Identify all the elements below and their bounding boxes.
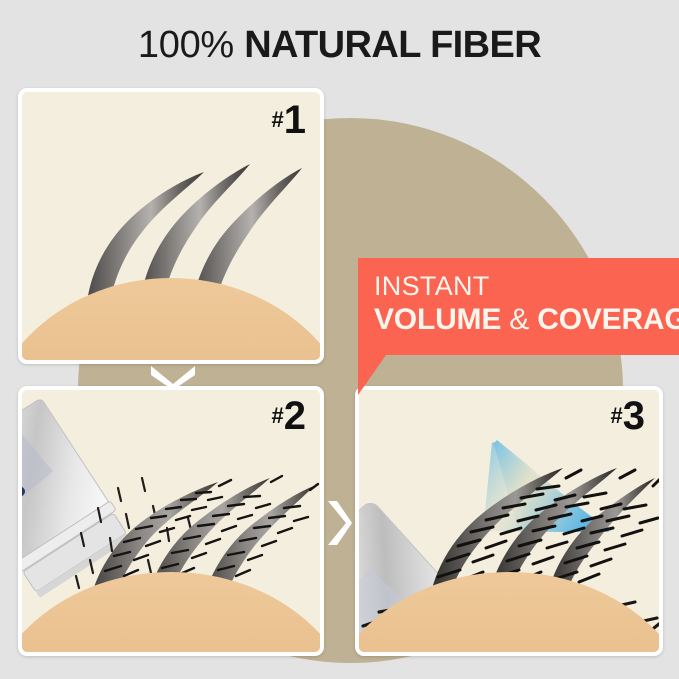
infographic-canvas: 100% NATURAL FIBER — [0, 0, 679, 679]
title-main: NATURAL FIBER — [244, 24, 541, 66]
step-label-1: #1 — [272, 100, 307, 140]
step-label-2: #2 — [272, 396, 307, 436]
step-hash-2: # — [272, 403, 284, 428]
promo-banner-text: INSTANT VOLUME & COVERAGE — [374, 270, 679, 338]
promo-line-instant: INSTANT — [374, 270, 679, 302]
step-panel-3: Super HAIR — [355, 386, 663, 656]
promo-line-volume-coverage: VOLUME & COVERAGE — [374, 302, 679, 338]
step-label-3: #3 — [611, 396, 646, 436]
step-hash-1: # — [272, 107, 284, 132]
arrow-down-icon — [148, 364, 198, 390]
promo-volume: VOLUME — [374, 303, 501, 336]
step-hash-3: # — [611, 403, 623, 428]
step-number-3: 3 — [623, 394, 645, 438]
step-panel-1: #1 — [18, 88, 324, 364]
step-number-1: 1 — [284, 98, 306, 142]
promo-ampersand: & — [509, 303, 529, 336]
step-panel-2: SUPER MILLION — [18, 386, 324, 656]
step-number-2: 2 — [284, 394, 306, 438]
banner-tail — [358, 355, 386, 395]
title-prefix: 100% — [138, 24, 234, 66]
page-title: 100% NATURAL FIBER — [0, 22, 679, 68]
arrow-right-icon — [326, 498, 352, 548]
promo-coverage: COVERAGE — [537, 303, 679, 336]
promo-banner: INSTANT VOLUME & COVERAGE — [358, 258, 679, 355]
